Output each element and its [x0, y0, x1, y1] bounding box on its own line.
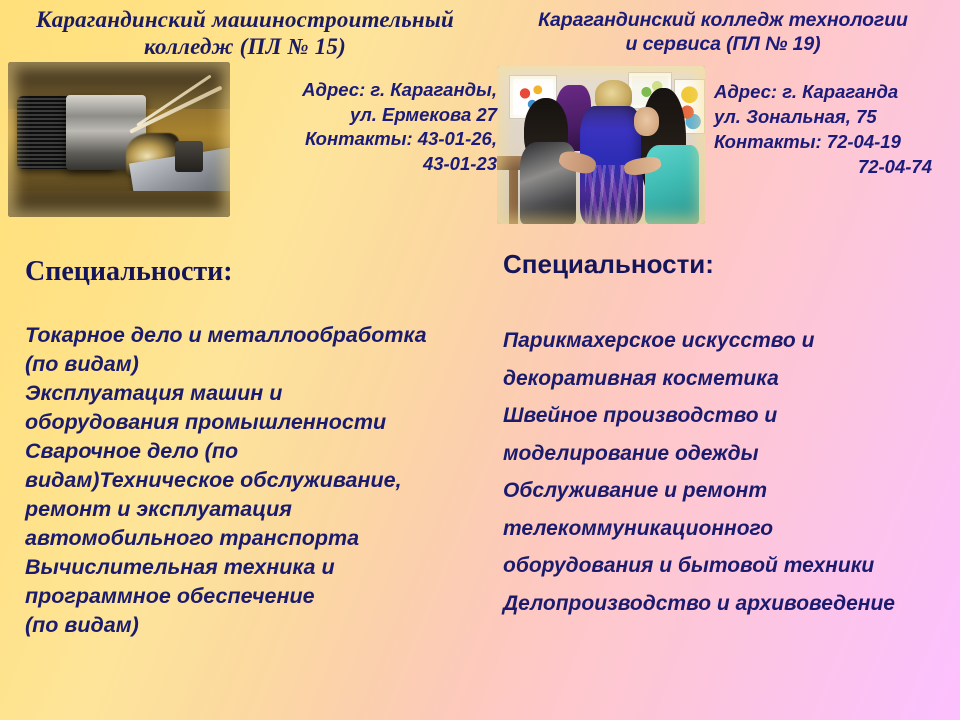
left-specialties-heading: Специальности:	[25, 256, 233, 288]
left-address-line3: Контакты: 43-01-26,	[305, 128, 497, 149]
list-item: автомобильного транспорта	[25, 524, 485, 553]
list-item: оборудования промышленности	[25, 408, 485, 437]
list-item: ремонт и эксплуатация	[25, 495, 485, 524]
list-item: видам)Техническое обслуживание,	[25, 466, 485, 495]
right-specialties-heading: Специальности:	[503, 249, 714, 280]
left-college-address-block: Адрес: г. Караганды, ул. Ермекова 27 Кон…	[245, 78, 497, 176]
left-address-line1: Адрес: г. Караганды,	[302, 79, 497, 100]
right-college-address-block: Адрес: г. Караганда ул. Зональная, 75 Ко…	[714, 79, 954, 179]
list-item: декоративная косметика	[503, 360, 951, 398]
list-item: телекоммуникационного	[503, 510, 951, 548]
list-item: Сварочное дело (по	[25, 437, 485, 466]
list-item: Делопроизводство и архивоведение	[503, 585, 951, 623]
list-item: Эксплуатация машин и	[25, 379, 485, 408]
classroom-table-leg	[509, 170, 517, 224]
lathe-photo-scene	[8, 62, 230, 217]
right-address-line2: ул. Зональная, 75	[714, 106, 877, 127]
lathe-machine-bed	[8, 191, 230, 217]
list-item: программное обеспечение	[25, 582, 485, 611]
student-right-face	[634, 107, 659, 135]
right-address-line1: Адрес: г. Караганда	[714, 81, 898, 102]
dressmaking-classroom-photo	[497, 66, 705, 224]
right-college-title-line2: и сервиса (ПЛ № 19)	[492, 32, 954, 56]
right-college-title-line1: Карагандинский колледж технологии	[492, 8, 954, 32]
right-college-title: Карагандинский колледж технологии и серв…	[492, 8, 954, 56]
left-college-title-line1: Карагандинский машиностроительный	[8, 6, 482, 33]
list-item: моделирование одежды	[503, 435, 951, 473]
left-college-title: Карагандинский машиностроительный коллед…	[8, 6, 482, 60]
left-college-title-line2: колледж (ПЛ № 15)	[8, 33, 482, 60]
presentation-slide: Карагандинский машиностроительный коллед…	[0, 0, 960, 720]
list-item: (по видам)	[25, 350, 485, 379]
lathe-clamp-bolt	[175, 141, 204, 172]
list-item: (по видам)	[25, 611, 485, 640]
left-address-line2: ул. Ермекова 27	[350, 104, 497, 125]
list-item: Токарное дело и металлообработка	[25, 321, 485, 350]
right-address-line3: Контакты: 72-04-19	[714, 131, 901, 152]
right-address-line4: 72-04-74	[714, 154, 954, 179]
left-address-line4: 43-01-23	[245, 152, 497, 177]
list-item: Парикмахерское искусство и	[503, 322, 951, 360]
dressmaking-photo-scene	[497, 66, 705, 224]
left-specialties-list: Токарное дело и металлообработка (по вид…	[25, 321, 485, 640]
list-item: Обслуживание и ремонт	[503, 472, 951, 510]
list-item: оборудования и бытовой техники	[503, 547, 951, 585]
list-item: Швейное производство и	[503, 397, 951, 435]
list-item: Вычислительная техника и	[25, 553, 485, 582]
lathe-machining-photo	[8, 62, 230, 217]
right-specialties-list: Парикмахерское искусство и декоративная …	[503, 322, 951, 622]
